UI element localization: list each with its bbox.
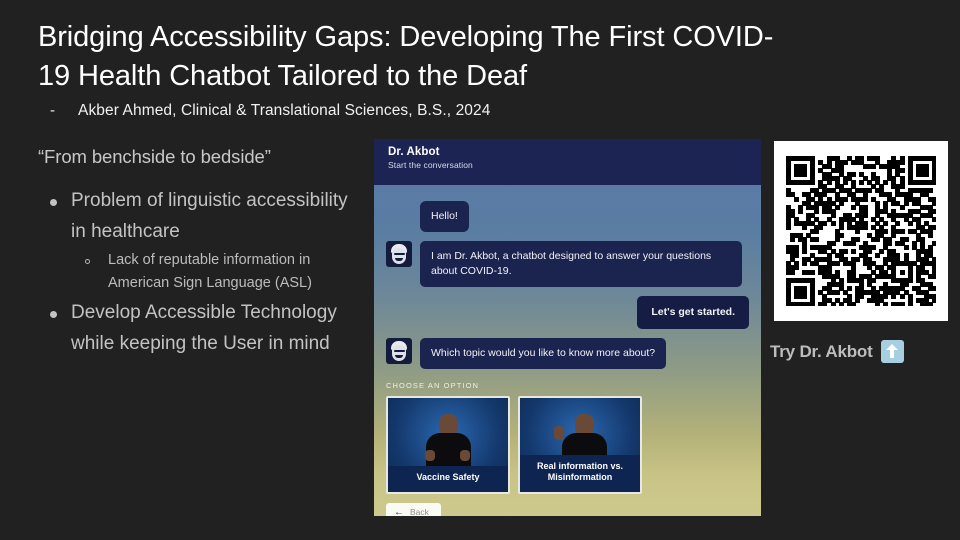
signer-hand-left bbox=[425, 450, 435, 461]
chat-message-row: Hello! bbox=[374, 185, 761, 232]
sub-bullet-list: Lack of reputable information in America… bbox=[71, 249, 366, 296]
bot-avatar-icon bbox=[386, 241, 412, 267]
signer-hand-right bbox=[460, 450, 470, 461]
page-title: Bridging Accessibility Gaps: Developing … bbox=[38, 18, 798, 95]
qr-caption-label: Try Dr. Akbot bbox=[770, 342, 873, 362]
chat-bubble-bot: Which topic would you like to know more … bbox=[420, 338, 666, 369]
chat-bot-status: Start the conversation bbox=[388, 160, 761, 170]
chat-bubble-bot: Hello! bbox=[420, 201, 469, 232]
option-card-label: Real information vs. Misinformation bbox=[520, 455, 640, 492]
chat-bot-name: Dr. Akbot bbox=[388, 146, 761, 158]
back-bar: ← Back bbox=[374, 494, 761, 516]
try-dr-akbot-caption: Try Dr. Akbot bbox=[770, 340, 904, 363]
bullet-list: Problem of linguistic accessibility in h… bbox=[36, 186, 366, 360]
bullet-ring-icon bbox=[85, 259, 90, 264]
sub-bullet-text: Lack of reputable information in America… bbox=[108, 249, 366, 296]
title-block: Bridging Accessibility Gaps: Developing … bbox=[38, 18, 798, 120]
chat-message-row: I am Dr. Akbot, a chatbot designed to an… bbox=[374, 241, 761, 287]
back-button-label: Back bbox=[410, 507, 429, 516]
qr-code-image[interactable] bbox=[786, 156, 936, 306]
option-card-list: Vaccine Safety Real information vs. Misi… bbox=[374, 396, 761, 494]
up-arrow-icon bbox=[881, 340, 904, 363]
avatar-face bbox=[392, 248, 406, 264]
bullet-dot-icon bbox=[50, 311, 57, 318]
avatar-brow bbox=[394, 350, 405, 352]
option-card-real-vs-misinformation[interactable]: Real information vs. Misinformation bbox=[518, 396, 642, 494]
chat-message-row: Let's get started. bbox=[374, 296, 761, 329]
slide-canvas: Bridging Accessibility Gaps: Developing … bbox=[0, 0, 960, 540]
avatar-mouth bbox=[395, 355, 403, 358]
list-item: Lack of reputable information in America… bbox=[71, 249, 366, 296]
arrow-shaft bbox=[890, 348, 894, 358]
author-credentials: Akber Ahmed, Clinical & Translational Sc… bbox=[78, 102, 490, 120]
arrow-left-icon: ← bbox=[394, 507, 404, 516]
signer-hand-raised bbox=[554, 426, 564, 440]
chat-bubble-user[interactable]: Let's get started. bbox=[637, 296, 749, 329]
avatar-face bbox=[392, 345, 406, 361]
chat-bubble-bot: I am Dr. Akbot, a chatbot designed to an… bbox=[420, 241, 742, 287]
author-line: - Akber Ahmed, Clinical & Translational … bbox=[38, 102, 798, 120]
bot-avatar-icon bbox=[386, 338, 412, 364]
chat-message-row: Which topic would you like to know more … bbox=[374, 338, 761, 369]
bullet-dot-icon bbox=[50, 199, 57, 206]
list-item: Develop Accessible Technology while keep… bbox=[36, 298, 366, 360]
qr-code-frame bbox=[774, 141, 948, 321]
back-button[interactable]: ← Back bbox=[386, 503, 441, 516]
chat-header: Dr. Akbot Start the conversation bbox=[374, 139, 761, 185]
list-item: Problem of linguistic accessibility in h… bbox=[36, 186, 366, 296]
option-card-vaccine-safety[interactable]: Vaccine Safety bbox=[386, 396, 510, 494]
bullet-text: Problem of linguistic accessibility in h… bbox=[71, 186, 366, 248]
subtitle-dash: - bbox=[50, 102, 78, 119]
avatar-brow bbox=[394, 253, 405, 255]
choose-an-option-label: CHOOSE AN OPTION bbox=[374, 378, 761, 396]
chat-message-area: Hello! I am Dr. Akbot, a chatbot designe… bbox=[374, 185, 761, 516]
tagline-quote: “From benchside to bedside” bbox=[38, 146, 366, 168]
left-content-column: “From benchside to bedside” Problem of l… bbox=[36, 146, 366, 362]
chatbot-screenshot-panel: Dr. Akbot Start the conversation Hello! … bbox=[374, 139, 761, 516]
option-card-label: Vaccine Safety bbox=[388, 466, 508, 491]
bullet-text: Develop Accessible Technology while keep… bbox=[71, 298, 366, 360]
